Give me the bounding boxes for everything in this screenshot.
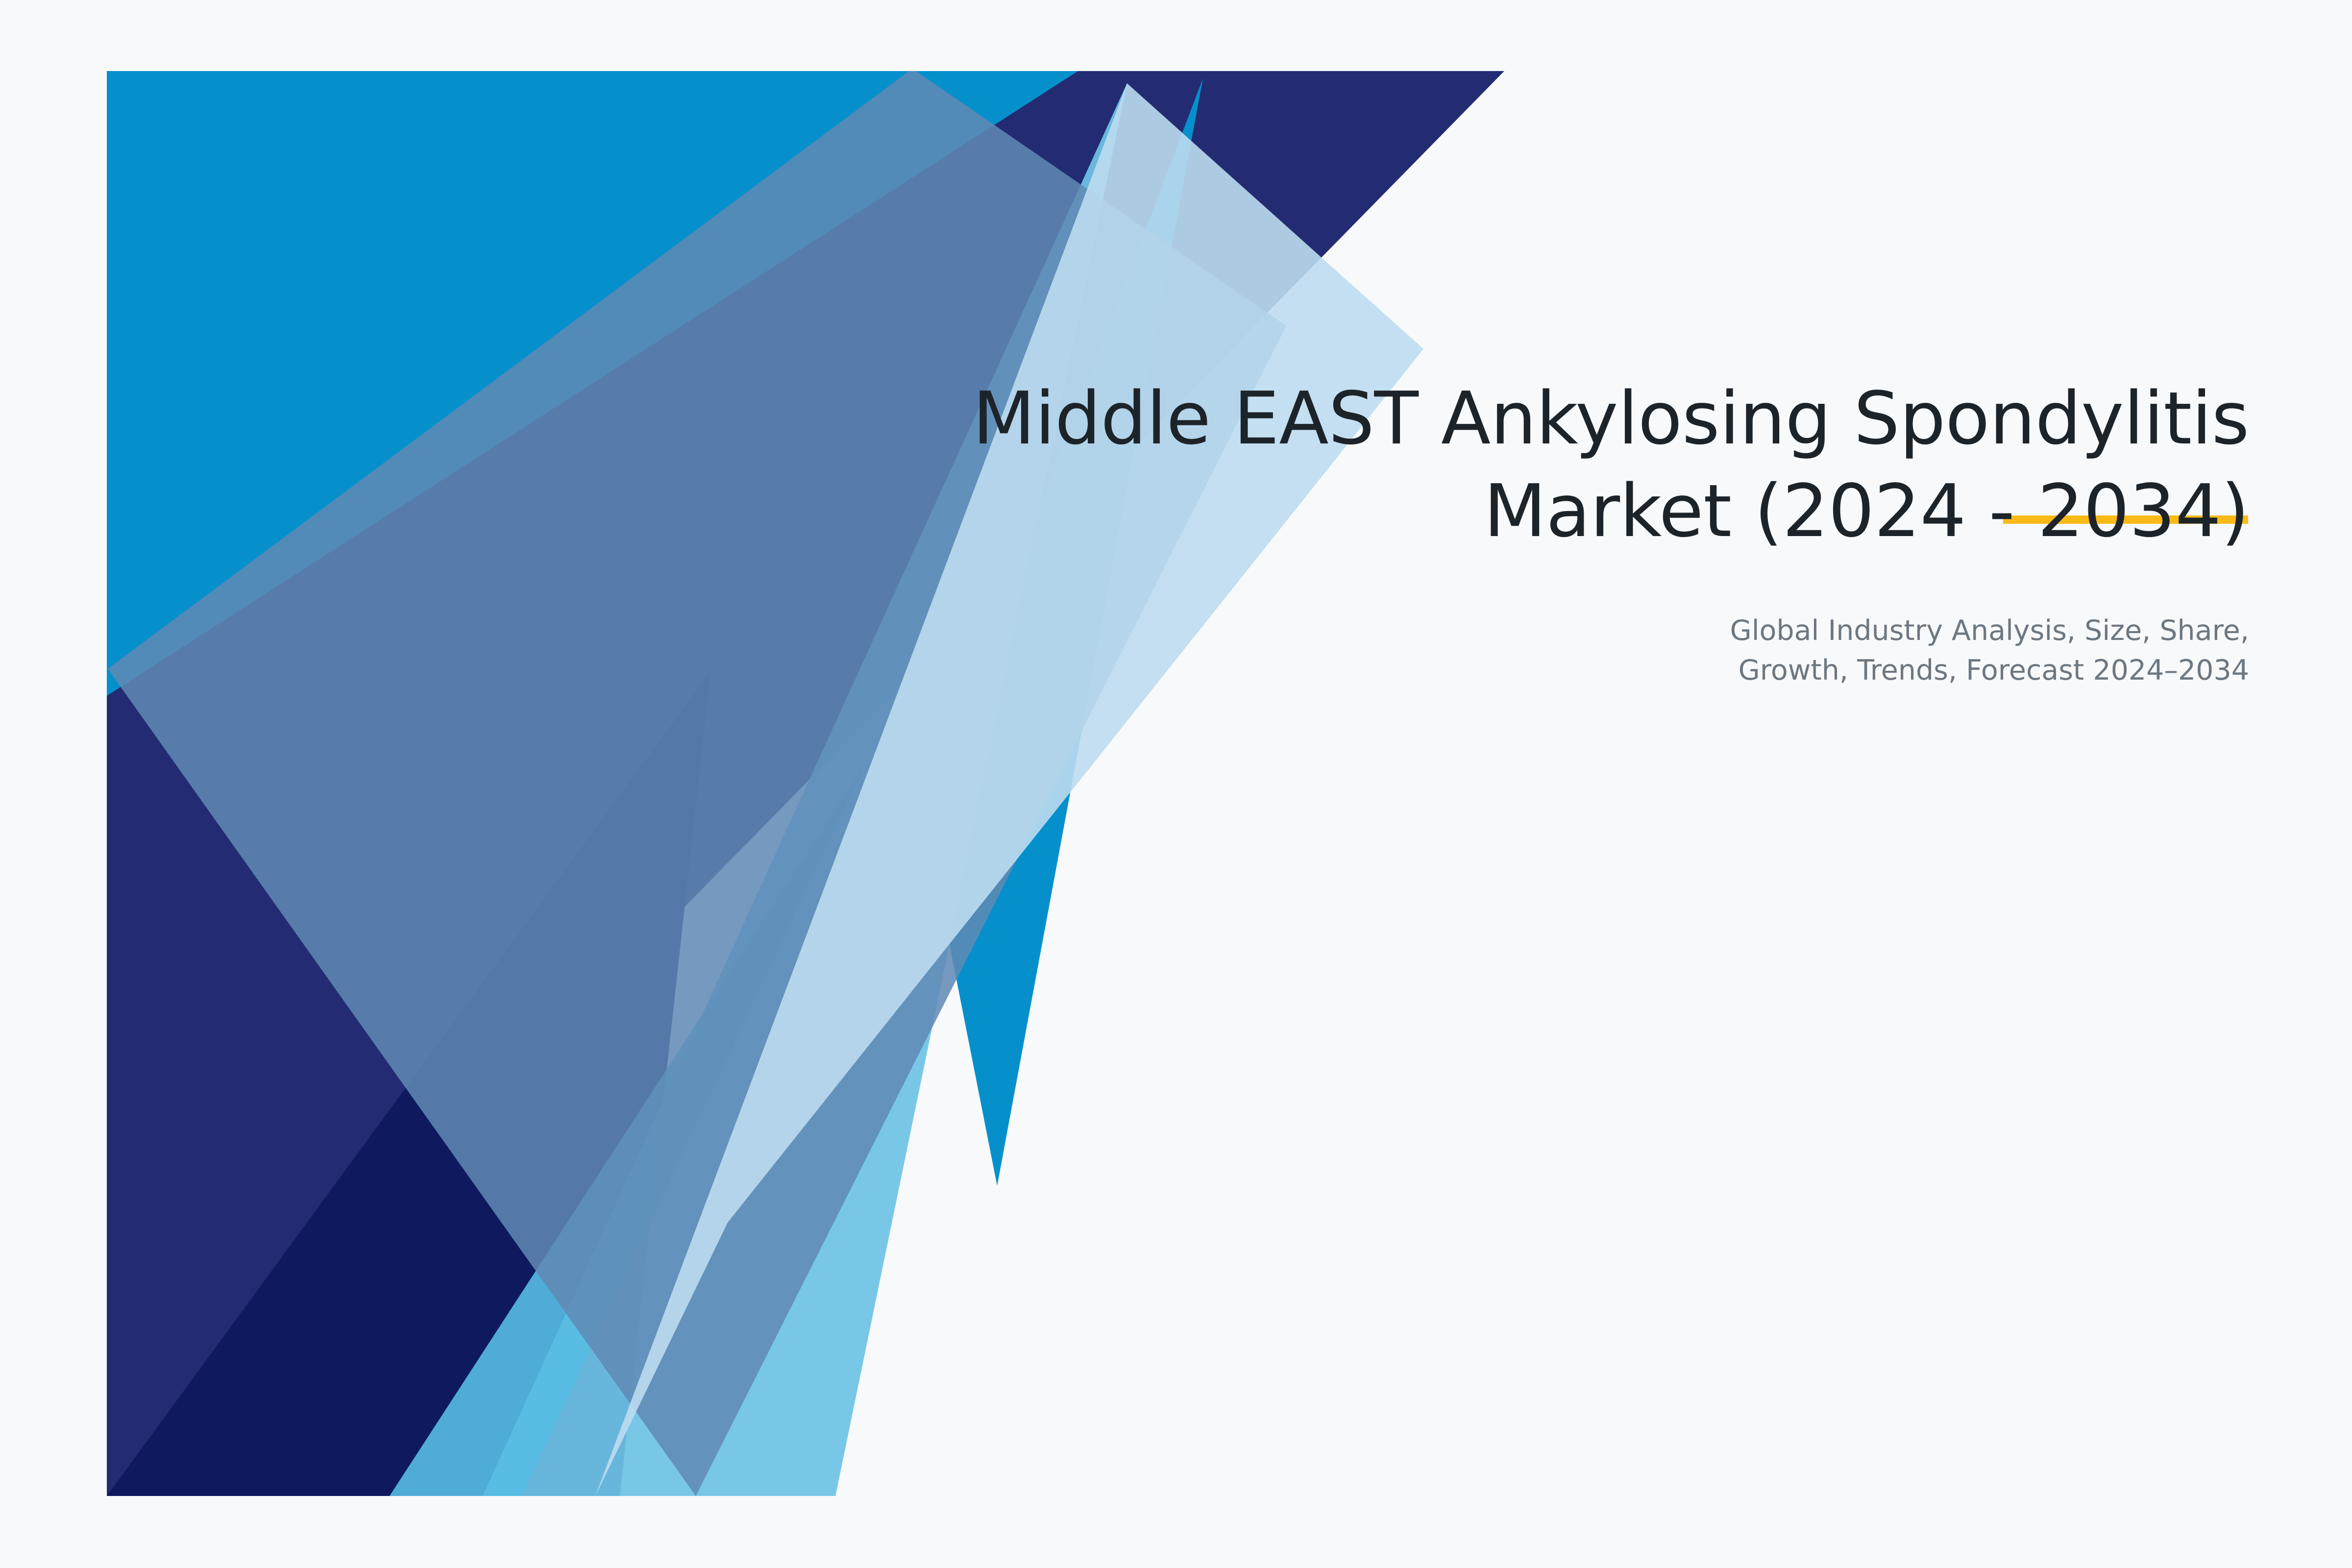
abstract-geometric-banner [0,0,2352,1568]
shape-clip-diagonal-mask [1504,71,2352,1496]
cover-text-block: Middle EAST Ankylosing Spondylitis Marke… [911,372,2249,690]
page-subtitle: Global Industry Analysis, Size, Share, G… [911,611,2249,690]
cover-page: Middle EAST Ankylosing Spondylitis Marke… [0,0,2352,1568]
shape-clip-left-mask [0,0,107,1568]
shape-clip-top-mask [0,0,2352,71]
shape-clip-bottom-mask [0,1496,2352,1568]
page-title: Middle EAST Ankylosing Spondylitis Marke… [911,372,2249,558]
